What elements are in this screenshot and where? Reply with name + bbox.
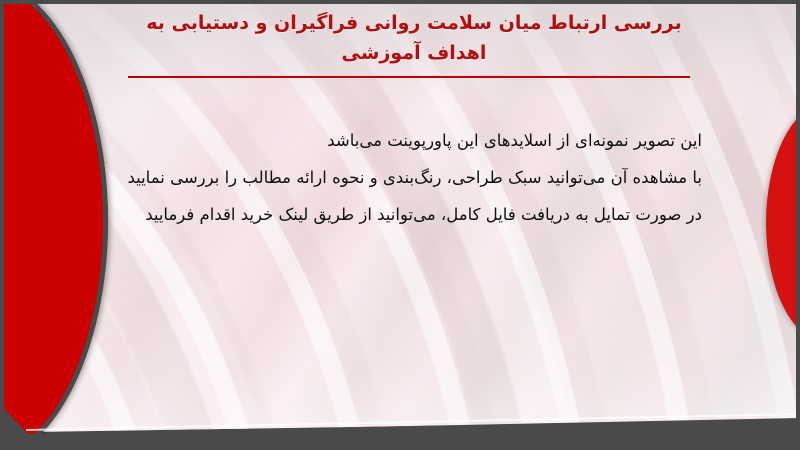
body-line-1: این تصویر نمونه‌ای از اسلایدهای این پاور… [150, 122, 702, 159]
body-line-2: با مشاهده آن می‌توانید سبک طراحی، رنگ‌بن… [150, 159, 702, 196]
slide-title: بررسی ارتباط میان سلامت روانی فراگیران و… [128, 8, 700, 68]
slide-body-text: این تصویر نمونه‌ای از اسلایدهای این پاور… [150, 122, 702, 233]
presentation-slide: بررسی ارتباط میان سلامت روانی فراگیران و… [0, 0, 800, 450]
title-underline-rule [128, 76, 690, 78]
slide-title-line-2: اهداف آموزشی [342, 42, 487, 64]
body-line-3: در صورت تمایل به دریافت فایل کامل، می‌تو… [150, 196, 702, 233]
slide-title-line-1: بررسی ارتباط میان سلامت روانی فراگیران و… [146, 12, 681, 34]
